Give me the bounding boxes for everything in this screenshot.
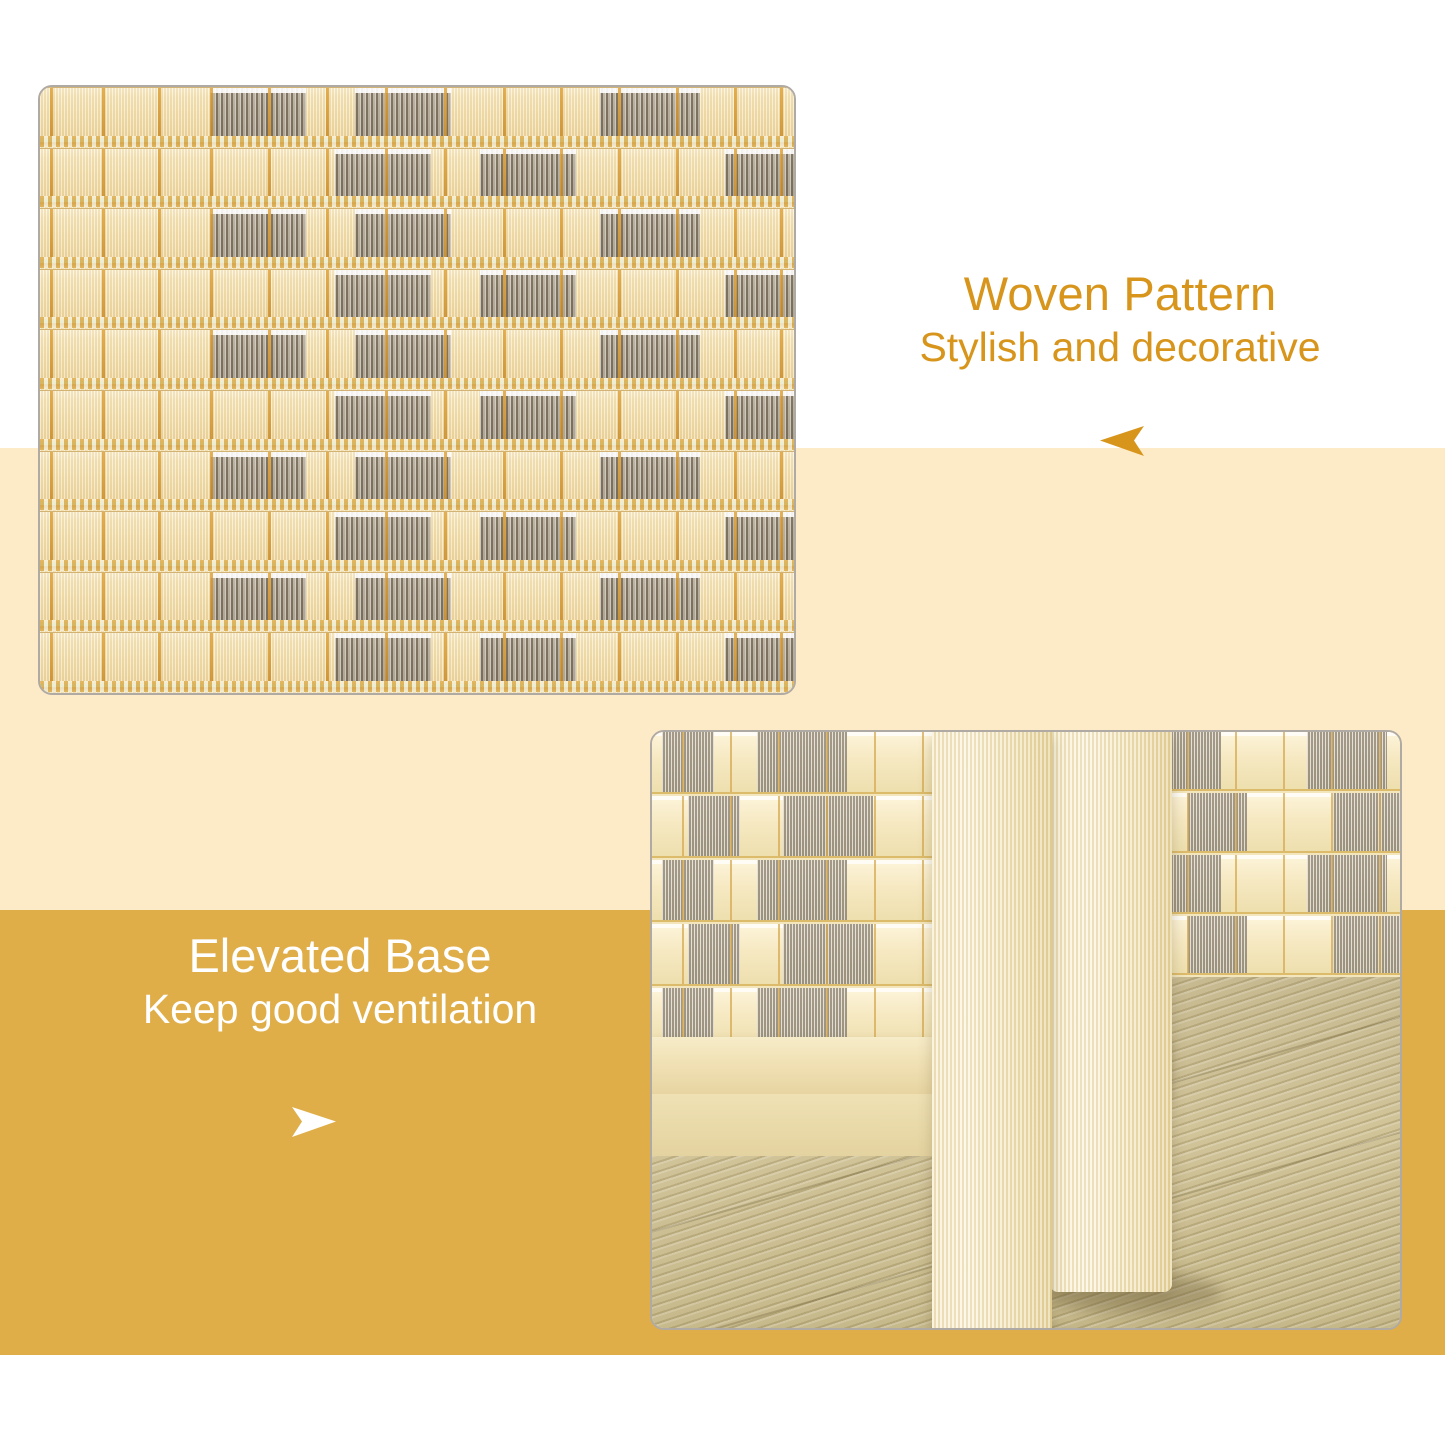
woven-dark-block <box>355 573 451 622</box>
cabinet-woven-dark-block <box>662 860 714 920</box>
woven-binding-thread <box>560 209 563 258</box>
woven-binding-thread <box>158 633 161 682</box>
woven-highlight <box>335 633 431 638</box>
cabinet-woven-panel-right <box>1157 732 1402 977</box>
woven-binding-thread <box>210 452 213 501</box>
woven-binding-thread <box>444 391 447 440</box>
woven-binding-thread <box>268 270 271 319</box>
woven-binding-thread <box>444 573 447 622</box>
woven-binding-thread <box>734 633 737 682</box>
cabinet-woven-thread <box>1379 793 1381 850</box>
woven-binding-thread <box>780 633 783 682</box>
woven-binding-thread <box>385 330 388 379</box>
cabinet-woven-dark-block <box>662 732 714 792</box>
cabinet-woven-thread <box>922 860 924 920</box>
woven-binding-thread <box>326 270 329 319</box>
woven-binding-thread <box>385 88 388 137</box>
woven-binding-thread <box>560 88 563 137</box>
cabinet-woven-thread <box>1331 855 1333 912</box>
woven-binding-thread <box>560 633 563 682</box>
woven-binding-thread <box>780 270 783 319</box>
woven-binding-thread <box>268 209 271 258</box>
woven-binding-thread <box>268 391 271 440</box>
woven-seam <box>40 439 794 450</box>
woven-dark-block <box>600 209 700 258</box>
woven-binding-thread <box>734 270 737 319</box>
woven-dark-block <box>210 573 306 622</box>
woven-binding-thread <box>50 391 53 440</box>
woven-highlight <box>335 391 431 396</box>
cabinet-woven-dark-block <box>1307 732 1387 789</box>
cabinet-woven-thread <box>826 924 828 984</box>
woven-binding-thread <box>618 512 621 561</box>
woven-seam <box>40 136 794 147</box>
woven-binding-thread <box>503 149 506 198</box>
woven-slat <box>40 572 794 623</box>
woven-dark-block <box>335 149 431 198</box>
woven-highlight <box>355 330 451 335</box>
woven-dark-block <box>335 270 431 319</box>
cabinet-woven-dark-block <box>757 732 847 792</box>
woven-binding-thread <box>326 512 329 561</box>
woven-dark-block <box>355 330 451 379</box>
woven-highlight <box>600 209 700 214</box>
woven-binding-thread <box>780 452 783 501</box>
woven-binding-thread <box>618 452 621 501</box>
elevated-base-subtitle: Keep good ventilation <box>60 985 620 1034</box>
woven-binding-thread <box>444 149 447 198</box>
woven-binding-thread <box>385 452 388 501</box>
woven-binding-thread <box>734 391 737 440</box>
woven-binding-thread <box>503 209 506 258</box>
cabinet-woven-thread <box>922 924 924 984</box>
woven-binding-thread <box>158 391 161 440</box>
woven-binding-thread <box>326 149 329 198</box>
cabinet-woven-slat <box>652 732 952 794</box>
cabinet-woven-dark-block <box>1187 916 1247 973</box>
woven-binding-thread <box>210 149 213 198</box>
woven-seam <box>40 499 794 510</box>
woven-binding-thread <box>560 391 563 440</box>
woven-pattern-title: Woven Pattern <box>840 268 1400 321</box>
woven-dark-block <box>335 512 431 561</box>
woven-binding-thread <box>618 573 621 622</box>
woven-binding-thread <box>618 330 621 379</box>
woven-binding-thread <box>444 209 447 258</box>
cabinet-woven-dark-block <box>1307 855 1387 912</box>
cabinet-woven-thread <box>778 732 780 792</box>
woven-highlight <box>335 149 431 154</box>
elevated-base-title: Elevated Base <box>60 930 620 983</box>
woven-binding-thread <box>560 330 563 379</box>
woven-slat <box>40 148 794 199</box>
woven-binding-thread <box>158 270 161 319</box>
cabinet-woven-slat <box>652 860 952 922</box>
cabinet-leg-front <box>932 732 1052 1330</box>
woven-binding-thread <box>268 512 271 561</box>
woven-binding-thread <box>503 633 506 682</box>
woven-seam <box>40 560 794 571</box>
woven-binding-thread <box>50 452 53 501</box>
woven-binding-thread <box>676 270 679 319</box>
woven-binding-thread <box>618 633 621 682</box>
woven-highlight <box>600 330 700 335</box>
cabinet-woven-thread <box>826 860 828 920</box>
woven-highlight <box>600 88 700 93</box>
cabinet-woven-thread <box>1283 855 1285 912</box>
woven-binding-thread <box>676 391 679 440</box>
woven-pattern-subtitle: Stylish and decorative <box>840 323 1400 372</box>
woven-binding-thread <box>676 633 679 682</box>
cabinet-woven-slat <box>1157 732 1402 791</box>
woven-seam <box>40 378 794 389</box>
woven-seam <box>40 196 794 207</box>
woven-highlight <box>355 88 451 93</box>
elevated-base-photo <box>650 730 1402 1330</box>
cabinet-woven-thread <box>826 732 828 792</box>
cabinet-woven-thread <box>1235 732 1237 789</box>
woven-binding-thread <box>503 452 506 501</box>
woven-binding-thread <box>560 573 563 622</box>
woven-binding-thread <box>210 209 213 258</box>
cabinet-woven-slat <box>1157 855 1402 914</box>
woven-dark-block <box>335 391 431 440</box>
woven-binding-thread <box>158 209 161 258</box>
woven-highlight <box>335 512 431 517</box>
woven-binding-thread <box>268 452 271 501</box>
woven-highlight <box>355 209 451 214</box>
woven-dark-block <box>210 88 306 137</box>
woven-binding-thread <box>444 330 447 379</box>
cabinet-woven-thread <box>1331 732 1333 789</box>
woven-binding-thread <box>210 330 213 379</box>
background-band-white-bottom <box>0 1355 1445 1445</box>
woven-slat <box>40 511 794 562</box>
woven-pattern-photo <box>38 85 796 695</box>
woven-seam <box>40 257 794 268</box>
woven-binding-thread <box>444 512 447 561</box>
woven-binding-thread <box>102 88 105 137</box>
woven-slat <box>40 329 794 380</box>
woven-slat <box>40 269 794 320</box>
woven-binding-thread <box>618 391 621 440</box>
cabinet-woven-thread <box>1187 855 1189 912</box>
woven-binding-thread <box>385 633 388 682</box>
cabinet-woven-thread <box>1187 916 1189 973</box>
woven-binding-thread <box>560 270 563 319</box>
woven-binding-thread <box>158 330 161 379</box>
woven-slat <box>40 632 794 683</box>
cabinet-woven-thread <box>1331 793 1333 850</box>
woven-binding-thread <box>268 633 271 682</box>
cabinet-woven-dark-block <box>688 924 740 984</box>
woven-dark-block <box>355 452 451 501</box>
woven-highlight <box>600 573 700 578</box>
woven-binding-thread <box>503 512 506 561</box>
woven-binding-thread <box>560 512 563 561</box>
cabinet-woven-dark-block <box>1333 793 1402 850</box>
woven-binding-thread <box>444 270 447 319</box>
woven-binding-thread <box>734 149 737 198</box>
woven-binding-thread <box>385 149 388 198</box>
cabinet-woven-slat <box>652 796 952 858</box>
woven-binding-thread <box>158 149 161 198</box>
woven-binding-thread <box>444 88 447 137</box>
woven-slat <box>40 390 794 441</box>
cabinet-woven-thread <box>1283 732 1285 789</box>
cabinet-woven-panel-left <box>652 732 952 1052</box>
woven-binding-thread <box>734 512 737 561</box>
woven-dark-block <box>210 330 306 379</box>
woven-binding-thread <box>734 573 737 622</box>
cabinet-woven-thread <box>1235 916 1237 973</box>
woven-binding-thread <box>102 149 105 198</box>
woven-binding-thread <box>385 391 388 440</box>
woven-binding-thread <box>102 391 105 440</box>
woven-dark-block <box>600 88 700 137</box>
cabinet-woven-thread <box>730 796 732 856</box>
woven-binding-thread <box>50 573 53 622</box>
cabinet-woven-thread <box>682 796 684 856</box>
woven-binding-thread <box>50 270 53 319</box>
woven-binding-thread <box>780 330 783 379</box>
woven-binding-thread <box>50 149 53 198</box>
woven-seam <box>40 317 794 328</box>
woven-binding-thread <box>50 88 53 137</box>
woven-binding-thread <box>268 573 271 622</box>
cabinet-woven-thread <box>778 924 780 984</box>
woven-binding-thread <box>444 452 447 501</box>
woven-highlight <box>210 330 306 335</box>
woven-binding-thread <box>385 209 388 258</box>
woven-binding-thread <box>158 452 161 501</box>
woven-highlight <box>355 573 451 578</box>
woven-binding-thread <box>50 512 53 561</box>
woven-binding-thread <box>326 573 329 622</box>
cabinet-woven-dark-block <box>688 796 740 856</box>
woven-slat <box>40 87 794 138</box>
woven-highlight <box>600 452 700 457</box>
cabinet-woven-thread <box>730 732 732 792</box>
woven-binding-thread <box>210 512 213 561</box>
woven-binding-thread <box>268 330 271 379</box>
cabinet-woven-thread <box>1187 793 1189 850</box>
woven-binding-thread <box>503 88 506 137</box>
woven-dark-block <box>600 330 700 379</box>
woven-binding-thread <box>503 573 506 622</box>
woven-binding-thread <box>503 391 506 440</box>
woven-binding-thread <box>780 573 783 622</box>
woven-pattern-callout: Woven Pattern Stylish and decorative <box>840 268 1400 372</box>
woven-binding-thread <box>734 452 737 501</box>
woven-dark-block <box>210 452 306 501</box>
woven-binding-thread <box>618 149 621 198</box>
woven-highlight <box>210 209 306 214</box>
woven-binding-thread <box>158 88 161 137</box>
arrow-right-icon <box>290 1105 338 1139</box>
woven-binding-thread <box>503 270 506 319</box>
woven-binding-thread <box>326 330 329 379</box>
woven-binding-thread <box>734 209 737 258</box>
woven-binding-thread <box>50 209 53 258</box>
woven-highlight <box>210 452 306 457</box>
woven-highlight <box>335 270 431 275</box>
woven-binding-thread <box>780 512 783 561</box>
cabinet-woven-thread <box>922 796 924 856</box>
woven-binding-thread <box>50 330 53 379</box>
cabinet-woven-thread <box>730 860 732 920</box>
woven-binding-thread <box>102 573 105 622</box>
woven-binding-thread <box>326 452 329 501</box>
woven-binding-thread <box>158 573 161 622</box>
cabinet-woven-thread <box>1283 916 1285 973</box>
woven-binding-thread <box>676 452 679 501</box>
cabinet-woven-thread <box>874 924 876 984</box>
woven-binding-thread <box>618 88 621 137</box>
cabinet-woven-dark-block <box>757 860 847 920</box>
arrow-left-icon <box>1098 424 1146 458</box>
woven-binding-thread <box>268 88 271 137</box>
woven-dark-block <box>210 209 306 258</box>
cabinet-woven-thread <box>682 924 684 984</box>
woven-texture <box>40 87 794 693</box>
woven-binding-thread <box>268 149 271 198</box>
woven-binding-thread <box>780 209 783 258</box>
woven-binding-thread <box>560 452 563 501</box>
woven-binding-thread <box>503 330 506 379</box>
woven-binding-thread <box>102 209 105 258</box>
cabinet-woven-thread <box>1283 793 1285 850</box>
woven-dark-block <box>600 573 700 622</box>
woven-binding-thread <box>102 633 105 682</box>
cabinet-woven-slat <box>1157 916 1402 975</box>
feature-collage: Woven Pattern Stylish and decorative Ele… <box>0 0 1445 1445</box>
cabinet-woven-thread <box>1379 732 1381 789</box>
woven-binding-thread <box>326 391 329 440</box>
woven-binding-thread <box>326 88 329 137</box>
woven-binding-thread <box>676 512 679 561</box>
woven-binding-thread <box>676 149 679 198</box>
woven-binding-thread <box>210 573 213 622</box>
woven-binding-thread <box>734 88 737 137</box>
woven-highlight <box>210 573 306 578</box>
cabinet-woven-thread <box>1235 793 1237 850</box>
cabinet-woven-thread <box>778 860 780 920</box>
woven-binding-thread <box>618 209 621 258</box>
woven-slat <box>40 451 794 502</box>
woven-slat <box>40 208 794 259</box>
woven-binding-thread <box>560 149 563 198</box>
woven-binding-thread <box>676 573 679 622</box>
woven-binding-thread <box>444 633 447 682</box>
cabinet-woven-thread <box>730 924 732 984</box>
woven-binding-thread <box>676 330 679 379</box>
cabinet-woven-thread <box>874 796 876 856</box>
cabinet-woven-thread <box>1379 855 1381 912</box>
woven-binding-thread <box>210 391 213 440</box>
base-scene <box>652 732 1400 1328</box>
woven-binding-thread <box>102 270 105 319</box>
woven-seam <box>40 681 794 692</box>
woven-binding-thread <box>618 270 621 319</box>
woven-binding-thread <box>326 633 329 682</box>
woven-dark-block <box>355 209 451 258</box>
cabinet-woven-thread <box>874 860 876 920</box>
woven-binding-thread <box>210 633 213 682</box>
cabinet-woven-thread <box>922 732 924 792</box>
cabinet-woven-dark-block <box>783 924 873 984</box>
cabinet-woven-thread <box>778 796 780 856</box>
woven-binding-thread <box>780 149 783 198</box>
woven-binding-thread <box>326 209 329 258</box>
cabinet-woven-thread <box>1331 916 1333 973</box>
woven-dark-block <box>600 452 700 501</box>
cabinet-woven-dark-block <box>783 796 873 856</box>
cabinet-woven-thread <box>682 732 684 792</box>
cabinet-woven-thread <box>1379 916 1381 973</box>
woven-binding-thread <box>780 391 783 440</box>
woven-dark-block <box>335 633 431 682</box>
woven-binding-thread <box>676 88 679 137</box>
cabinet-woven-dark-block <box>1333 916 1402 973</box>
woven-binding-thread <box>102 330 105 379</box>
cabinet-woven-thread <box>874 732 876 792</box>
cabinet-woven-dark-block <box>1187 793 1247 850</box>
woven-dark-block <box>355 88 451 137</box>
woven-binding-thread <box>734 330 737 379</box>
woven-binding-thread <box>50 633 53 682</box>
woven-binding-thread <box>210 88 213 137</box>
woven-binding-thread <box>210 270 213 319</box>
cabinet-leg-back <box>1050 732 1172 1292</box>
woven-binding-thread <box>102 512 105 561</box>
cabinet-woven-thread <box>1187 732 1189 789</box>
woven-binding-thread <box>385 573 388 622</box>
woven-binding-thread <box>385 270 388 319</box>
cabinet-woven-slat <box>1157 793 1402 852</box>
cabinet-woven-thread <box>682 860 684 920</box>
woven-binding-thread <box>780 88 783 137</box>
cabinet-woven-thread <box>1235 855 1237 912</box>
woven-binding-thread <box>102 452 105 501</box>
cabinet-woven-slat <box>652 924 952 986</box>
woven-binding-thread <box>158 512 161 561</box>
cabinet-woven-thread <box>826 796 828 856</box>
woven-binding-thread <box>385 512 388 561</box>
woven-seam <box>40 620 794 631</box>
woven-binding-thread <box>676 209 679 258</box>
elevated-base-callout: Elevated Base Keep good ventilation <box>60 930 620 1034</box>
woven-highlight <box>355 452 451 457</box>
woven-highlight <box>210 88 306 93</box>
